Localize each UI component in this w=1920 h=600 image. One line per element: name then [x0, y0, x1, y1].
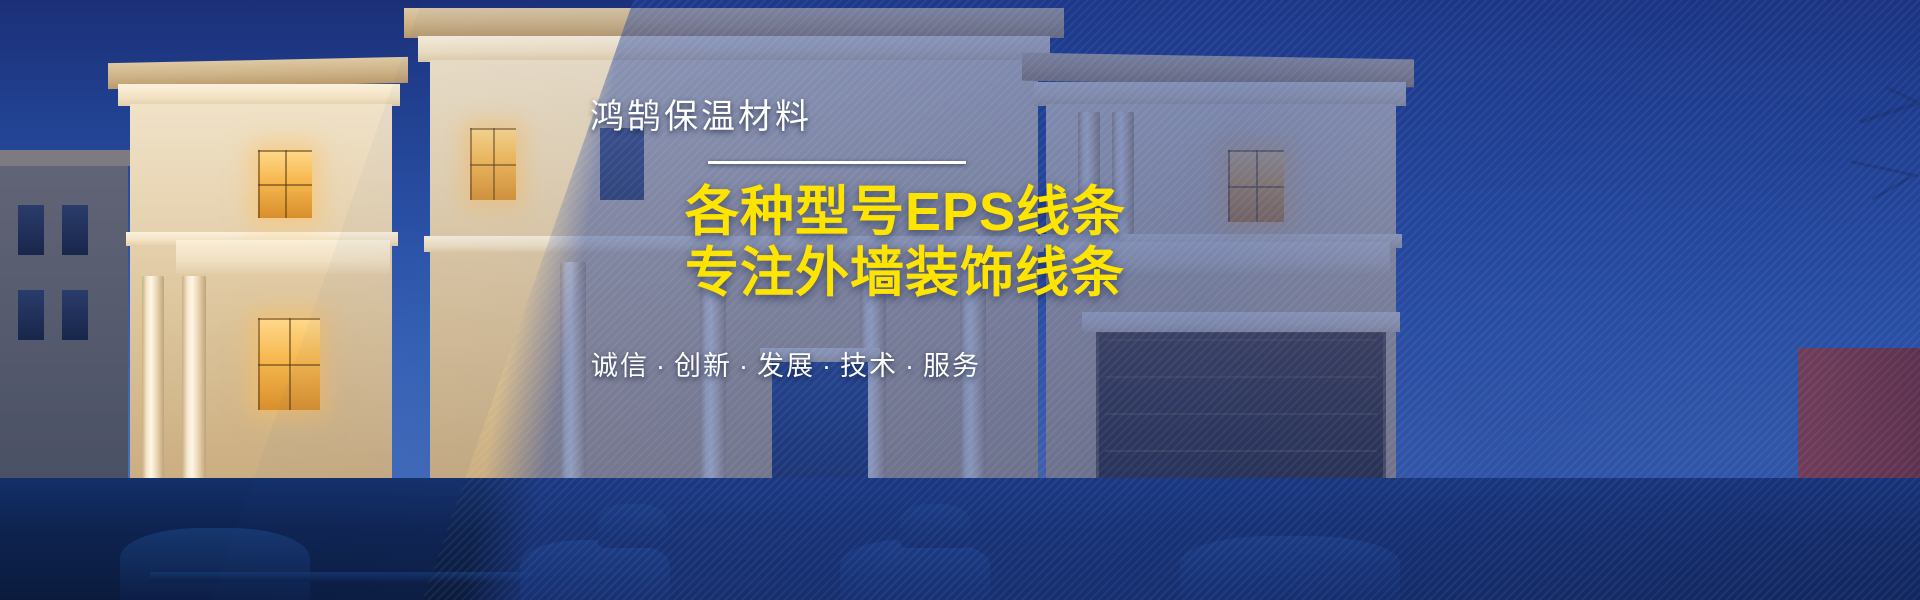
- banner-tagline: 诚信·创新·发展·技术·服务: [591, 344, 1095, 383]
- hero-banner: 鸿鹄保温材料 各种型号EPS线条 专注外墙装饰线条 诚信·创新·发展·技术·服务: [0, 0, 1920, 600]
- banner-subtitle: 鸿鹄保温材料: [590, 96, 1095, 139]
- tagline-item: 发展: [757, 351, 815, 381]
- banner-content: 鸿鹄保温材料 各种型号EPS线条 专注外墙装饰线条 诚信·创新·发展·技术·服务: [575, 96, 1095, 383]
- tagline-item: 创新: [674, 351, 732, 381]
- tagline-separator: ·: [822, 351, 833, 381]
- tagline-separator: ·: [905, 351, 916, 381]
- banner-headline-line-1: 各种型号EPS线条: [685, 182, 1095, 243]
- banner-headline-line-2: 专注外墙装饰线条: [685, 243, 1095, 304]
- tagline-separator: ·: [656, 351, 667, 381]
- tagline-item: 诚信: [591, 351, 649, 381]
- tagline-item: 技术: [840, 351, 898, 381]
- title-divider: [708, 161, 966, 164]
- tagline-separator: ·: [739, 351, 750, 381]
- tagline-item: 服务: [923, 351, 981, 381]
